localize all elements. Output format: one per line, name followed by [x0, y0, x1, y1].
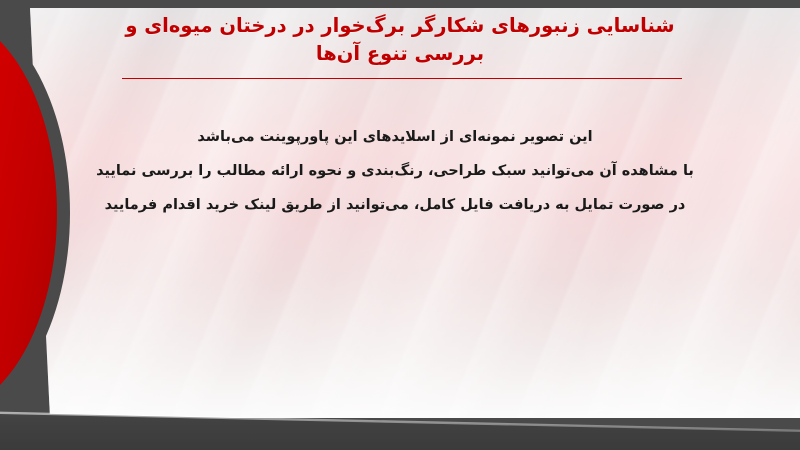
body-line-3: در صورت تمایل به دریافت فایل کامل، می‌تو… [50, 188, 740, 222]
title-underline-rule [122, 78, 682, 79]
body-line-1: این تصویر نمونه‌ای از اسلایدهای این پاور… [50, 120, 740, 154]
body-line-2: با مشاهده آن می‌توانید سبک طراحی، رنگ‌بن… [50, 154, 740, 188]
slide-title: شناسایی زنبورهای شکارگر برگ‌خوار در درخت… [95, 12, 705, 68]
presentation-slide: شناسایی زنبورهای شکارگر برگ‌خوار در درخت… [0, 0, 800, 450]
title-line-2: بررسی تنوع آن‌ها [95, 40, 705, 68]
title-line-1: شناسایی زنبورهای شکارگر برگ‌خوار در درخت… [95, 12, 705, 40]
slide-body-text: این تصویر نمونه‌ای از اسلایدهای این پاور… [50, 120, 740, 222]
